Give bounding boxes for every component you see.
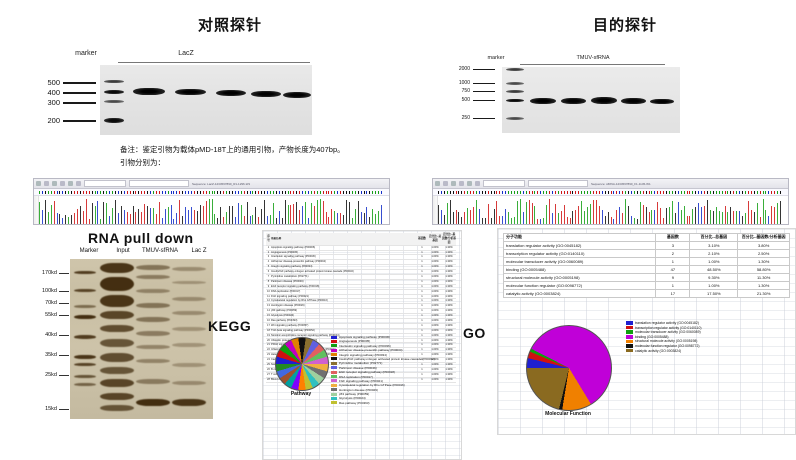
go-cell-pct-analyzed: 21.30% [738, 289, 790, 297]
base-call [675, 191, 676, 194]
legend-label: Insulin/IGF pathway-mitogen activated pr… [339, 357, 435, 361]
base-call [488, 191, 489, 194]
pulldown-band [172, 363, 206, 367]
trace-peak [194, 210, 195, 225]
pulldown-band [100, 311, 134, 319]
trace-peak [564, 205, 565, 225]
trace-peak [584, 211, 585, 225]
trace-peak [757, 203, 758, 225]
kegg-cell-count: 1 [416, 255, 428, 259]
trace-peak [182, 216, 183, 225]
base-call [473, 191, 474, 194]
base-call [599, 191, 600, 194]
open-icon[interactable] [36, 181, 41, 186]
trace-peak [760, 217, 761, 225]
pulldown-gel: Marker Input TMUV-sfRNA Lac Z 170kd 100k… [45, 248, 260, 433]
trace-peak [352, 218, 353, 225]
trace-peak [150, 208, 151, 225]
trace-peak [185, 207, 186, 225]
target-probe-gel: marker TMUV-sfRNA 2000 1000 750 500 250 [448, 52, 738, 142]
toolbar-field-wide[interactable] [528, 180, 588, 187]
trace-peak [308, 218, 309, 225]
go-cell-pct-analyzed: 3.80% [738, 241, 790, 249]
base-call [320, 191, 321, 194]
sample-band [650, 99, 674, 104]
find-icon[interactable] [475, 181, 480, 186]
go-cell-pct-total: 9.30% [690, 273, 738, 281]
kegg-cell-name: Cytoskeletal regulation by Rho GTPase (P… [271, 299, 416, 303]
trace-peak [494, 209, 495, 225]
base-call [314, 191, 315, 194]
pulldown-ladder-tick [59, 273, 69, 274]
base-call [587, 191, 588, 194]
kegg-cell-count: 1 [416, 280, 428, 284]
base-call [311, 191, 312, 194]
base-call [328, 191, 329, 194]
trace-peak [482, 218, 483, 225]
kegg-cell-name: Angiogenesis (P00005) [271, 251, 416, 255]
base-call [768, 191, 769, 194]
sample-band [216, 90, 246, 96]
kegg-cell-pct-total: 1.00% [428, 251, 442, 255]
next-icon[interactable] [467, 181, 472, 186]
trace-peak [109, 216, 110, 225]
trace-peak [86, 199, 87, 225]
trace-peak [288, 205, 289, 225]
kegg-cell-pct-total: 1.00% [428, 295, 442, 299]
base-call [334, 191, 335, 194]
base-call [156, 191, 157, 194]
kegg-cell-pct-total: 1.00% [428, 260, 442, 264]
base-call [118, 191, 119, 194]
kegg-cell-name: Huntington disease (P00029) [271, 304, 416, 308]
base-call [203, 191, 204, 194]
trace-peak [302, 206, 303, 225]
trace-peak [133, 206, 134, 225]
trace-peak [543, 218, 544, 225]
trace-peak [258, 217, 259, 225]
trace-peak [168, 207, 169, 225]
trace-peak [631, 216, 632, 225]
trace-peak [678, 202, 679, 226]
save-icon[interactable] [44, 181, 49, 186]
base-call [771, 191, 772, 194]
base-call [450, 191, 451, 194]
trace-peak [279, 211, 280, 225]
chromatogram-toolbar[interactable]: Sequence: LacZ-1234567890_R1-1296-W1 [34, 179, 389, 189]
trace-peak [780, 201, 781, 225]
trace-peak [71, 215, 72, 225]
base-call [103, 191, 104, 194]
trace-peak [593, 200, 594, 225]
legend-swatch [331, 349, 337, 352]
kegg-cell-pct-analyzed: 1.30% [442, 343, 456, 347]
legend-label: catalytic activity (GO:0003824) [635, 349, 681, 353]
go-cell-name: binding (GO:0005488) [504, 265, 656, 273]
trace-peak [707, 200, 708, 225]
base-call [361, 191, 362, 194]
pulldown-band [172, 297, 206, 301]
base-call [780, 191, 781, 194]
kegg-cell-name: FGF signaling pathway (P00021) [271, 295, 416, 299]
trace-peak [458, 212, 459, 225]
base-call [634, 191, 635, 194]
pulldown-band [74, 335, 96, 339]
pulldown-band [100, 353, 134, 362]
base-call [482, 191, 483, 194]
base-call [590, 191, 591, 194]
go-cell-pct-analyzed: 1.30% [738, 281, 790, 289]
kegg-cell-count: 1 [416, 260, 428, 264]
go-cell-count: 1 [656, 281, 690, 289]
go-legend-item: structural molecule activity (GO:0005198… [626, 339, 701, 343]
base-call [552, 191, 553, 194]
pulldown-lane-label: TMUV-sfRNA [137, 248, 183, 254]
trace-peak [293, 204, 294, 225]
go-cell-pct-analyzed: 2.50% [738, 249, 790, 257]
toolbar-field-wide[interactable] [129, 180, 189, 187]
trace-peak [570, 218, 571, 225]
base-call [92, 191, 93, 194]
trace-peak [127, 212, 128, 225]
trace-peak [267, 216, 268, 225]
legend-swatch [331, 371, 337, 374]
trace-peak [587, 207, 588, 225]
trace-peak [611, 217, 612, 225]
trace-peak [331, 209, 332, 225]
trace-peak [716, 207, 717, 225]
chromatogram-right[interactable]: Sequence: sfRNA-1234567890_F1-1145-W1 [432, 178, 789, 225]
kegg-cell-count: 1 [416, 290, 428, 294]
legend-swatch [626, 344, 633, 348]
base-call [144, 191, 145, 194]
trace-peak [485, 218, 486, 225]
legend-swatch [626, 321, 633, 325]
base-call [698, 191, 699, 194]
base-call [572, 191, 573, 194]
trace-peak [567, 217, 568, 225]
legend-swatch [331, 336, 337, 339]
base-call [130, 191, 131, 194]
kegg-cell-count: 1 [416, 329, 428, 333]
base-call [109, 191, 110, 194]
base-call [760, 191, 761, 194]
base-call [244, 191, 245, 194]
kegg-cell-pct-analyzed: 1.30% [442, 275, 456, 279]
trace-peak [698, 203, 699, 225]
base-call [255, 191, 256, 194]
base-call [308, 191, 309, 194]
trace-peak [602, 210, 603, 225]
base-call [496, 191, 497, 194]
trace-peak [118, 213, 119, 225]
go-cell-pct-total: 2.10% [690, 249, 738, 257]
marker-band [104, 90, 124, 94]
base-call [358, 191, 359, 194]
base-call [511, 191, 512, 194]
trace-peak [704, 206, 705, 225]
base-call [689, 191, 690, 194]
trace-peak [197, 211, 198, 225]
kegg-cell-name: Ras pathway (P04393) [271, 319, 416, 323]
sample-band [530, 98, 556, 104]
trace-peak [649, 212, 650, 225]
kegg-cell-pct-analyzed: 1.30% [442, 299, 456, 303]
kegg-cell-pct-analyzed: 1.30% [442, 304, 456, 308]
base-call [200, 191, 201, 194]
legend-label: FGF signaling pathway (P00021) [339, 379, 383, 383]
kegg-cell-pct-total: 1.00% [428, 275, 442, 279]
trace-peak [540, 219, 541, 225]
trace-peak [191, 207, 192, 225]
trace-peak [326, 212, 327, 225]
trace-peak [232, 206, 233, 225]
base-call [479, 191, 480, 194]
toolbar-field[interactable] [84, 180, 126, 187]
base-call [663, 191, 664, 194]
base-call [340, 191, 341, 194]
next-icon[interactable] [68, 181, 73, 186]
trace-peak [364, 213, 365, 225]
base-call [279, 191, 280, 194]
marker-band [104, 100, 124, 103]
trace-peak [74, 213, 75, 225]
open-icon[interactable] [435, 181, 440, 186]
trace-peak [328, 217, 329, 225]
pulldown-ladder-label: 15kd [27, 406, 57, 412]
chromatogram-toolbar[interactable]: Sequence: sfRNA-1234567890_F1-1145-W1 [433, 179, 788, 189]
ladder-label-1000: 1000 [448, 80, 470, 86]
trace-peak [745, 213, 746, 225]
legend-swatch [331, 353, 337, 356]
trace-peak [532, 203, 533, 225]
trace-peak [453, 212, 454, 225]
go-cell-count: 9 [656, 273, 690, 281]
trace-peak [305, 202, 306, 225]
kegg-cell-name: TGF-beta signaling pathway (P00052) [271, 329, 416, 333]
trace-peak [534, 206, 535, 225]
trace-peak [771, 206, 772, 225]
trace-peak [730, 207, 731, 225]
pulldown-ladder-label: 70kd [27, 300, 57, 306]
base-call [112, 191, 113, 194]
kegg-cell-name: Apoptosis signaling pathway (P00006) [271, 246, 416, 250]
go-cell-pct-analyzed: 1.30% [738, 257, 790, 265]
sample-band [175, 89, 206, 95]
kegg-cell-pct-total: 1.00% [428, 270, 442, 274]
trace-peak [244, 216, 245, 226]
trace-peak [555, 204, 556, 225]
legend-swatch [331, 388, 337, 391]
kegg-legend-item: Pyrimidine metabolism (P02771) [331, 361, 435, 365]
print-icon[interactable] [459, 181, 464, 186]
base-call [209, 191, 210, 194]
trace-peak [106, 203, 107, 225]
trace-peak [355, 209, 356, 225]
go-legend: translation regulator activity (GO:00451… [626, 321, 701, 353]
caption-line-2: 引物分别为： [120, 157, 165, 169]
go-cell-pct-total: 1.00% [690, 281, 738, 289]
marker-band [506, 90, 524, 93]
target-sample-underline [520, 64, 665, 65]
ladder-label-250: 250 [448, 115, 470, 121]
kegg-cell-pct-analyzed: 1.30% [442, 270, 456, 274]
chromatogram-ruler [34, 189, 389, 196]
base-call [461, 191, 462, 194]
print-icon[interactable] [60, 181, 65, 186]
go-cell-name: translation regulator activity (GO:00451… [504, 241, 656, 249]
base-call [378, 191, 379, 194]
trace-peak [51, 205, 52, 225]
save-icon[interactable] [443, 181, 448, 186]
base-call [241, 191, 242, 194]
export-icon[interactable] [451, 181, 456, 186]
trace-peak [179, 200, 180, 225]
go-table-header-row: 分子功能 基因数 百分比--总基因 百分比--基因数/分析基因 [504, 234, 790, 242]
trace-peak [366, 207, 367, 225]
trace-peak [349, 202, 350, 225]
trace-peak [252, 215, 253, 225]
trace-peak [378, 211, 379, 225]
legend-label: molecular function regulator (GO:0098772… [635, 344, 699, 348]
kegg-cell-name: Insulin/IGF pathway-mitogen activated pr… [271, 270, 416, 274]
base-call [153, 191, 154, 194]
kegg-cell-name: Glycolysis (P00024) [271, 314, 416, 318]
kegg-legend-item: FGF signaling pathway (P00021) [331, 379, 435, 383]
base-call [727, 191, 728, 194]
base-call [364, 191, 365, 194]
trace-peak [666, 208, 667, 225]
go-cell-count: 3 [656, 241, 690, 249]
trace-peak [456, 210, 457, 225]
base-call [212, 191, 213, 194]
base-call [331, 191, 332, 194]
go-cell-pct-total: 3.10% [690, 241, 738, 249]
legend-swatch [626, 330, 633, 334]
trace-peak [537, 219, 538, 225]
kegg-cell-count: 1 [416, 324, 428, 328]
trace-peak [736, 211, 737, 225]
kegg-cell-pct-analyzed: 1.30% [442, 246, 456, 250]
base-call [745, 191, 746, 194]
pulldown-band [74, 289, 96, 292]
go-table: 分子功能 基因数 百分比--总基因 百分比--基因数/分析基因 translat… [503, 233, 790, 298]
legend-swatch [331, 340, 337, 343]
kegg-cell-pct-total: 1.00% [428, 324, 442, 328]
kegg-cell-pct-analyzed: 1.30% [442, 314, 456, 318]
base-call [733, 191, 734, 194]
go-col-pct-total: 百分比--总基因 [690, 234, 738, 242]
ladder-label-200: 200 [36, 116, 60, 125]
trace-peak [774, 207, 775, 225]
target-probe-title: 目的探针 [545, 14, 705, 35]
base-call [678, 191, 679, 194]
base-call [613, 191, 614, 194]
base-call [57, 191, 58, 194]
trace-peak [608, 212, 609, 225]
base-call [48, 191, 49, 194]
trace-peak [203, 206, 204, 225]
trace-peak [768, 216, 769, 225]
kegg-sheet[interactable]: 序号통路名称基因数百分比--总基因百分比--基因数/分析基因1Apoptosis… [262, 230, 462, 460]
base-call [660, 191, 661, 194]
base-call [625, 191, 626, 194]
kegg-legend-item: Alzheimer disease-presenilin pathway (P0… [331, 348, 435, 352]
go-pie-caption: Molecular Function [526, 411, 610, 417]
pulldown-ladder-tick [59, 335, 69, 336]
base-call [147, 191, 148, 194]
trace-peak [646, 207, 647, 225]
base-call [757, 191, 758, 194]
base-call [631, 191, 632, 194]
base-call [456, 191, 457, 194]
base-call [725, 191, 726, 194]
base-call [520, 191, 521, 194]
go-legend-item: binding (GO:0005488) [626, 335, 701, 339]
base-call [74, 191, 75, 194]
find-icon[interactable] [76, 181, 81, 186]
chromatogram-left[interactable]: Sequence: LacZ-1234567890_R1-1296-W1 [33, 178, 390, 225]
base-call [217, 191, 218, 194]
chromatogram-ruler [433, 189, 788, 196]
go-sheet[interactable]: 分子功能 基因数 百分比--总基因 百分比--基因数/分析基因 translat… [497, 228, 796, 435]
base-call [165, 191, 166, 194]
legend-label: Glycolysis (P00024) [339, 396, 366, 400]
trace-peak [212, 199, 213, 225]
export-icon[interactable] [52, 181, 57, 186]
toolbar-field[interactable] [483, 180, 525, 187]
ladder-tick-300 [63, 102, 96, 104]
kegg-cell-pct-total: 1.00% [428, 290, 442, 294]
control-probe-title: 对照探针 [150, 14, 310, 35]
legend-label: Apoptosis signaling pathway (P00006) [339, 335, 390, 339]
trace-peak [100, 219, 101, 225]
go-cell-count: 1 [656, 257, 690, 265]
base-call [584, 191, 585, 194]
base-call [739, 191, 740, 194]
trace-peak [572, 211, 573, 225]
base-call [68, 191, 69, 194]
trace-peak [669, 207, 670, 225]
base-call [476, 191, 477, 194]
kegg-legend-item: DNA replication (P00017) [331, 375, 435, 379]
kegg-legend-item: Ras pathway (P04393) [331, 401, 435, 405]
kegg-legend-item: Parkinson disease (P00049) [331, 366, 435, 370]
base-call [532, 191, 533, 194]
trace-peak [681, 210, 682, 225]
base-call [444, 191, 445, 194]
pulldown-band [74, 383, 96, 386]
trace-peak [92, 203, 93, 225]
kegg-cell-count: 1 [416, 270, 428, 274]
kegg-cell-count: 1 [416, 314, 428, 318]
trace-peak [473, 207, 474, 225]
legend-label: Cytoskeletal regulation by Rho GTPase (P… [339, 383, 405, 387]
trace-peak [337, 213, 338, 225]
ladder-label-500: 500 [448, 97, 470, 103]
chromatogram-title: Sequence: sfRNA-1234567890_F1-1145-W1 [591, 182, 651, 186]
trace-peak [552, 213, 553, 225]
base-call [162, 191, 163, 194]
base-call [223, 191, 224, 194]
legend-label: DNA replication (P00017) [339, 375, 373, 379]
go-col-name: 分子功能 [504, 234, 656, 242]
pulldown-band [74, 271, 96, 274]
sample-band [251, 91, 281, 97]
base-call [250, 191, 251, 194]
trace-peak [238, 203, 239, 225]
trace-peak [270, 215, 271, 225]
